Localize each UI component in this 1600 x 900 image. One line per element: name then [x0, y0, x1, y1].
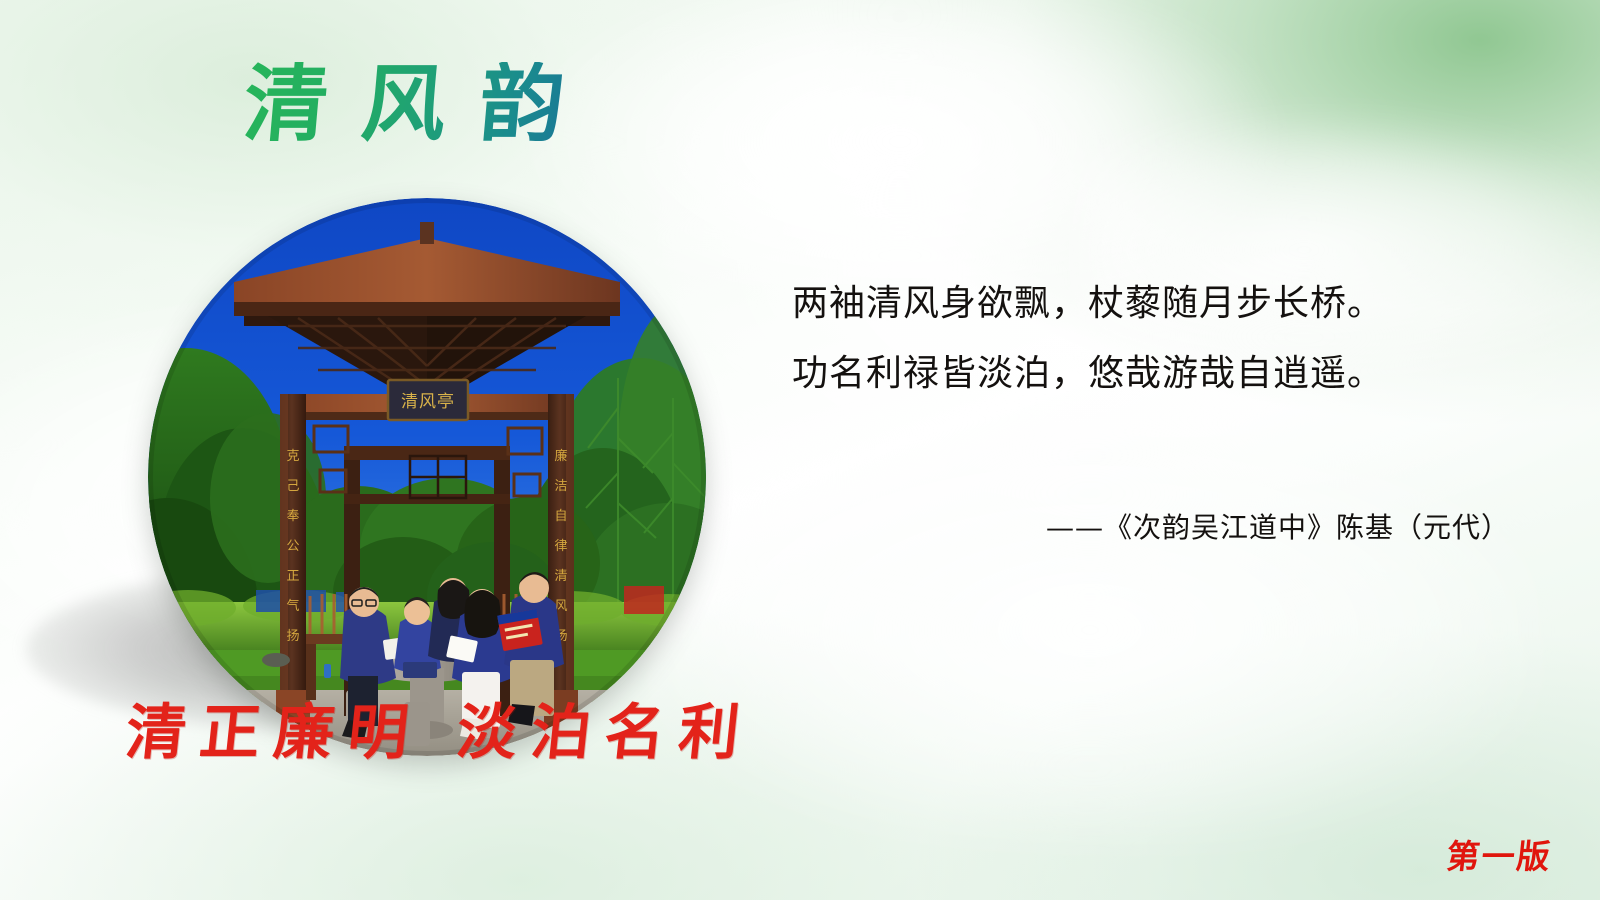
slide-canvas: 清风韵	[0, 0, 1600, 900]
poem-block: 两袖清风身欲飘，杖藜随月步长桥。 功名利禄皆淡泊，悠哉游哉自逍遥。	[792, 286, 1452, 392]
pavilion-photo-artwork: 清风亭 克 己 奉 公 正 气 扬 廉	[148, 198, 706, 756]
svg-text:自: 自	[554, 509, 567, 524]
poem-line: 两袖清风身欲飘，杖藜随月步长桥。	[792, 286, 1452, 322]
svg-text:己: 己	[286, 479, 299, 494]
svg-text:气: 气	[286, 598, 299, 614]
poem-attribution: ——《次韵吴江道中》陈基（元代）	[792, 506, 1510, 546]
svg-text:扬: 扬	[286, 629, 299, 644]
svg-text:正: 正	[286, 569, 299, 584]
slogan-text: 清正廉明 淡泊名利	[123, 702, 757, 765]
svg-text:清风亭: 清风亭	[401, 392, 455, 412]
svg-text:公: 公	[286, 539, 299, 554]
pavilion-photo: 清风亭 克 己 奉 公 正 气 扬 廉	[148, 198, 706, 756]
svg-text:清: 清	[554, 569, 567, 584]
background-cloud-wisp	[640, 420, 1540, 840]
svg-text:廉: 廉	[554, 448, 567, 464]
poem-line: 功名利禄皆淡泊，悠哉游哉自逍遥。	[792, 356, 1452, 392]
svg-text:奉: 奉	[286, 509, 299, 524]
page-number-badge: 第一版	[1444, 830, 1554, 878]
svg-text:克: 克	[286, 449, 299, 464]
svg-text:律: 律	[554, 539, 567, 554]
page-title: 清风韵	[240, 62, 601, 146]
svg-text:洁: 洁	[554, 479, 567, 494]
